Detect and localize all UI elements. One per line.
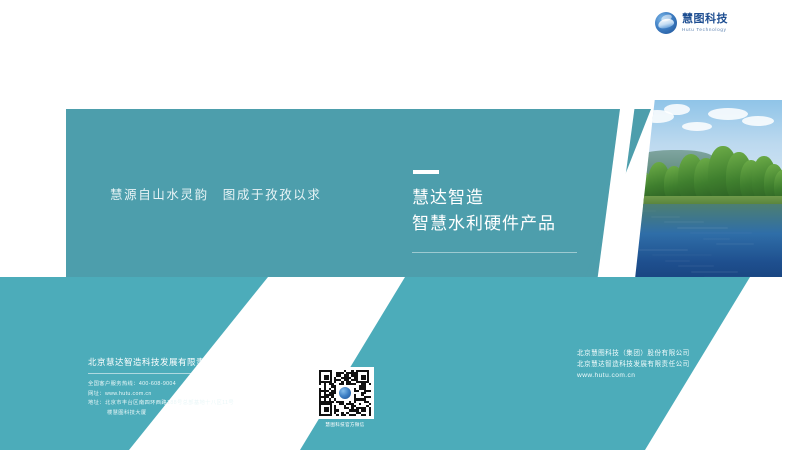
contact-left-address-cont: 楼慧图科技大厦 — [88, 409, 288, 419]
hero-tagline: 慧源自山水灵韵 图成于孜孜以求 — [110, 186, 360, 204]
contact-block-right: 北京慧图科技（集团）股份有限公司 北京慧达智造科技发展有限责任公司 www.hu… — [577, 348, 787, 381]
contact-right-sub-company: 北京慧达智造科技发展有限责任公司 — [577, 359, 787, 370]
contact-left-address: 地址：北京市丰台区南四环西路188号总部基地十八区11号 — [88, 399, 288, 409]
hero-title-rule — [412, 252, 577, 253]
contact-left-divider — [88, 373, 236, 374]
contact-block-left: 北京慧达智造科技发展有限责任公司 全国客户服务热线：400-608-9004 网… — [88, 356, 288, 418]
logo-name-en: Hutu Technology — [682, 26, 728, 33]
photo-cloud — [742, 116, 774, 126]
qr-center-logo-icon — [338, 386, 352, 400]
photo-cloud — [682, 122, 712, 131]
wechat-qr-block[interactable]: 慧图科技官方微信 — [316, 367, 374, 428]
qr-code-box[interactable] — [316, 367, 374, 419]
contact-right-website: www.hutu.com.cn — [577, 370, 787, 381]
brochure-cover-page: 慧图科技 Hutu Technology 慧源自山水灵韵 图成于孜孜以求 慧达智… — [0, 0, 800, 450]
logo-text-block: 慧图科技 Hutu Technology — [682, 13, 728, 33]
globe-wave-logo-icon — [655, 12, 677, 34]
photo-water — [634, 204, 782, 288]
hero-title-line2: 智慧水利硬件产品 — [412, 211, 602, 237]
qr-code-image[interactable] — [319, 370, 371, 416]
logo-name-cn: 慧图科技 — [682, 13, 728, 25]
contact-left-hotline: 全国客户服务热线：400-608-9004 — [88, 380, 288, 390]
contact-left-website: 网址：www.hutu.com.cn — [88, 390, 288, 400]
qr-caption: 慧图科技官方微信 — [316, 422, 374, 428]
title-accent-dash — [413, 170, 439, 174]
contact-right-group-company: 北京慧图科技（集团）股份有限公司 — [577, 348, 787, 359]
contact-left-company: 北京慧达智造科技发展有限责任公司 — [88, 356, 288, 368]
hero-title: 慧达智造 智慧水利硬件产品 — [412, 185, 602, 237]
photo-treeline — [634, 136, 782, 202]
company-logo: 慧图科技 Hutu Technology — [655, 12, 728, 34]
hero-title-line1: 慧达智造 — [412, 185, 602, 211]
photo-cloud — [664, 104, 690, 115]
river-landscape-photo — [634, 100, 782, 288]
photo-cloud — [708, 108, 748, 120]
